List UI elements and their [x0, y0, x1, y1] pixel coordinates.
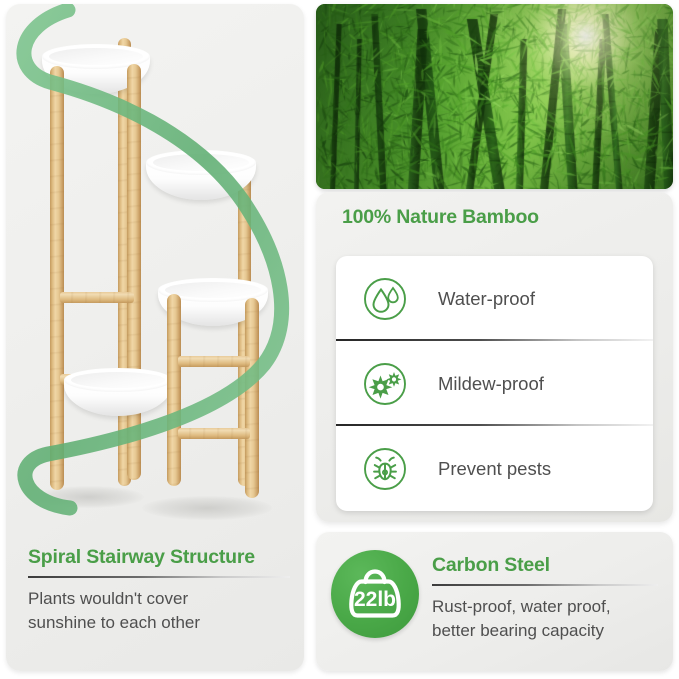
plant-tray-2	[146, 150, 256, 200]
bamboo-crossbar	[178, 356, 250, 367]
product-showcase-panel: Spiral Stairway Structure Plants wouldn'…	[6, 4, 304, 671]
bamboo-forest-canvas	[316, 4, 673, 189]
weight-badge: 22lb	[331, 550, 419, 638]
bamboo-leg-mid	[127, 64, 141, 480]
spiral-structure-title: Spiral Stairway Structure	[28, 546, 290, 569]
bamboo-leg-right-outer	[245, 298, 259, 498]
left-caption-block: Spiral Stairway Structure Plants wouldn'…	[28, 546, 290, 635]
plant-stand-illustration	[6, 4, 304, 534]
carbon-steel-panel: 22lb Carbon Steel Rust-proof, water proo…	[316, 532, 673, 671]
feature-divider	[336, 509, 653, 511]
plant-tray-4	[64, 368, 172, 416]
bamboo-leg-front-right	[167, 294, 181, 486]
feature-list-card: Water-proof Mildew-proof	[336, 256, 653, 511]
nature-bamboo-title: 100% Nature Bamboo	[342, 206, 539, 229]
title-divider	[28, 576, 290, 578]
bamboo-crossbar	[60, 292, 134, 303]
title-divider	[432, 584, 658, 586]
floor-shadow	[34, 486, 144, 508]
water-drop-icon	[363, 277, 407, 321]
feature-label: Prevent pests	[438, 458, 551, 480]
mildew-spore-icon	[363, 362, 407, 406]
feature-row-prevent-pests: Prevent pests	[336, 426, 653, 511]
feature-label: Water-proof	[438, 288, 535, 310]
feature-row-mildew-proof: Mildew-proof	[336, 341, 653, 426]
weight-value-text: 22lb	[354, 588, 396, 611]
bamboo-forest-photo	[316, 4, 673, 189]
bamboo-leg-front-left	[50, 66, 64, 490]
feature-row-water-proof: Water-proof	[336, 256, 653, 341]
product-infographic: Spiral Stairway Structure Plants wouldn'…	[0, 0, 679, 679]
carbon-steel-title: Carbon Steel	[432, 554, 658, 577]
carbon-steel-text-block: Carbon Steel Rust-proof, water proof, be…	[432, 554, 658, 643]
carbon-steel-description: Rust-proof, water proof, better bearing …	[432, 595, 658, 643]
floor-shadow	[142, 496, 272, 520]
spiral-structure-description: Plants wouldn't cover sunshine to each o…	[28, 587, 290, 635]
feature-label: Mildew-proof	[438, 373, 544, 395]
bamboo-crossbar	[178, 428, 250, 439]
nature-bamboo-panel: 100% Nature Bamboo Water-proof	[316, 192, 673, 522]
bug-icon	[363, 447, 407, 491]
